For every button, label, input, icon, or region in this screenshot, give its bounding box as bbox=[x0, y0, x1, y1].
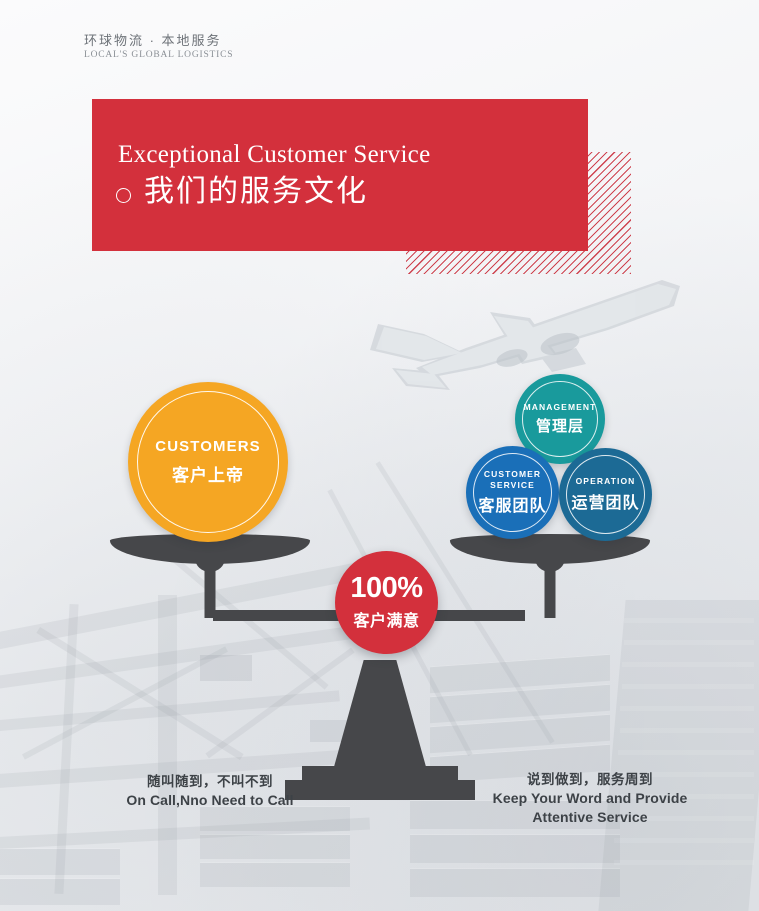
caption-right: 说到做到，服务周到 Keep Your Word and Provide Att… bbox=[480, 771, 700, 827]
pan-stem bbox=[545, 556, 556, 618]
bubble-operation-english: OPERATION bbox=[576, 476, 636, 486]
satisfaction-percent: 100% bbox=[350, 574, 422, 603]
bubble-service-english-line1: CUSTOMER bbox=[484, 469, 541, 479]
balance-base-lower bbox=[285, 780, 475, 800]
bubble-service-english-line2: SERVICE bbox=[490, 480, 535, 490]
caption-left-english: On Call,Nno Need to Call bbox=[110, 791, 310, 810]
pan-stem bbox=[205, 556, 216, 618]
caption-left: 随叫随到，不叫不到 On Call,Nno Need to Call bbox=[110, 773, 310, 810]
caption-right-english-line1: Keep Your Word and Provide bbox=[480, 789, 700, 808]
bubble-operation[interactable]: OPERATION 运营团队 bbox=[559, 448, 652, 541]
bubble-text: CUSTOMERS 客户上帝 bbox=[128, 382, 288, 542]
bubble-management-english: MANAGEMENT bbox=[524, 402, 597, 412]
bubble-customers[interactable]: CUSTOMERS 客户上帝 bbox=[128, 382, 288, 542]
bubble-operation-chinese: 运营团队 bbox=[571, 489, 639, 513]
bubble-service-chinese: 客服团队 bbox=[478, 492, 546, 516]
bubble-text: CUSTOMER SERVICE 客服团队 bbox=[466, 446, 559, 539]
satisfaction-chinese: 客户满意 bbox=[353, 607, 419, 631]
bubble-text: 100% 客户满意 bbox=[335, 551, 438, 654]
bubble-customer-service[interactable]: CUSTOMER SERVICE 客服团队 bbox=[466, 446, 559, 539]
caption-right-english-line2: Attentive Service bbox=[480, 808, 700, 827]
balance-pedestal bbox=[332, 660, 428, 774]
bubble-customers-chinese: 客户上帝 bbox=[172, 461, 244, 486]
bubble-text: OPERATION 运营团队 bbox=[559, 448, 652, 541]
caption-left-chinese: 随叫随到，不叫不到 bbox=[110, 773, 310, 791]
poster-canvas: 环球物流 · 本地服务 LOCAL'S GLOBAL LOGISTICS Exc… bbox=[0, 0, 759, 911]
caption-right-chinese: 说到做到，服务周到 bbox=[480, 771, 700, 789]
bubble-satisfaction[interactable]: 100% 客户满意 bbox=[335, 551, 438, 654]
bubble-customers-english: CUSTOMERS bbox=[155, 438, 260, 456]
bubble-management-chinese: 管理层 bbox=[536, 415, 584, 436]
